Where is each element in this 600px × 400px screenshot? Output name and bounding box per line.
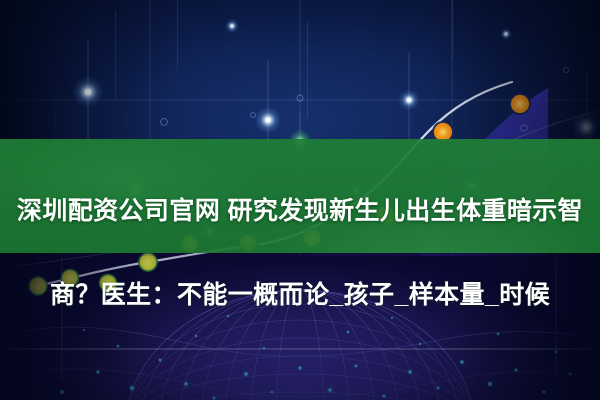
headline-text: 深圳配资公司官网 研究发现新生儿出生体重暗示智 商？医生：不能一概而论_孩子_样… xyxy=(0,148,600,358)
banner-image: 深圳配资公司官网 研究发现新生儿出生体重暗示智 商？医生：不能一概而论_孩子_样… xyxy=(0,0,600,400)
headline-line-2: 商？医生：不能一概而论_孩子_样本量_时候 xyxy=(0,274,600,316)
headline-line-1: 深圳配资公司官网 研究发现新生儿出生体重暗示智 xyxy=(0,190,600,232)
